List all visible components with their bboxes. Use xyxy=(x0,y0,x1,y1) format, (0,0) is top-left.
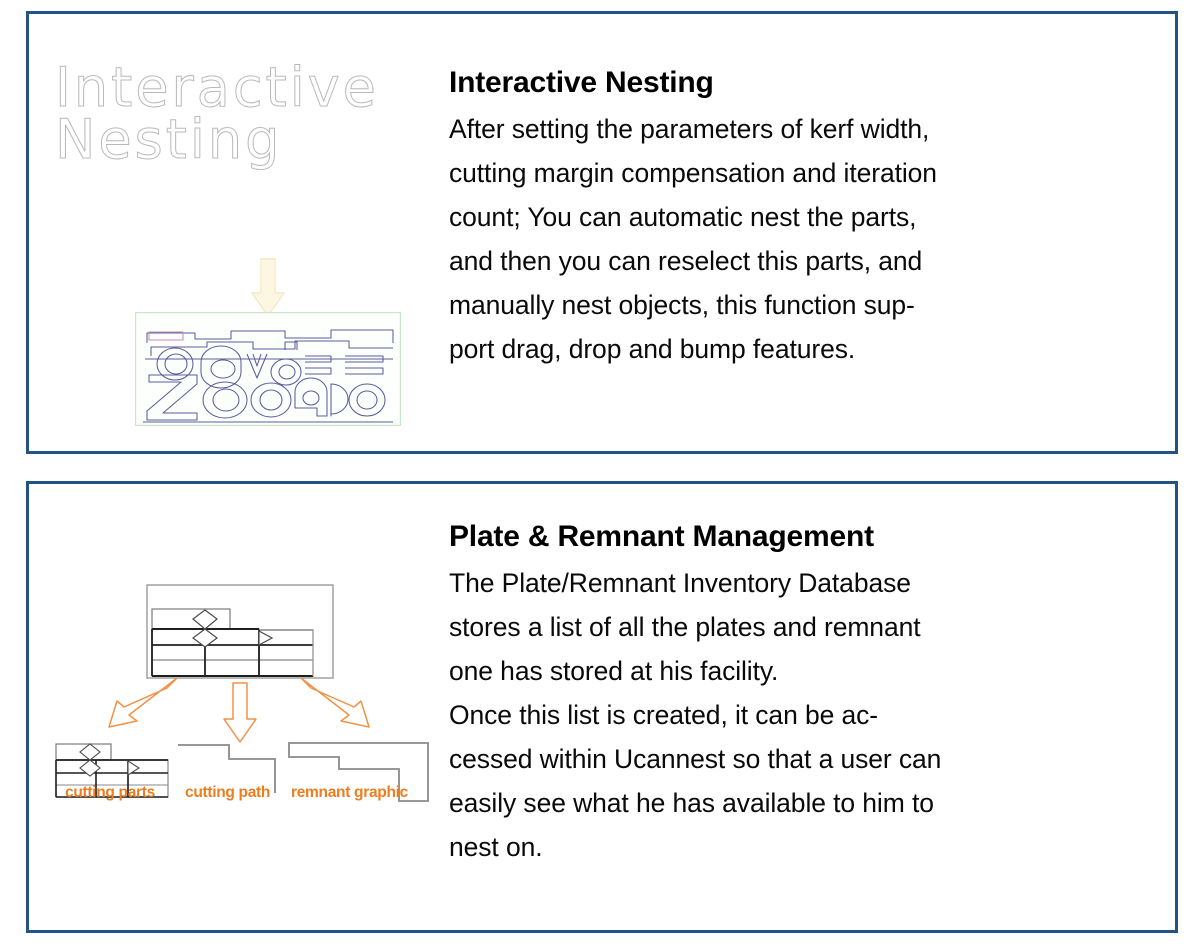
figure-interactive-nesting: Interactive Nesting xyxy=(29,14,449,451)
source-plate xyxy=(147,585,333,678)
plate-remnant-diagram xyxy=(39,579,449,779)
panel-2-paragraph-2: Once this list is created, it can be ac-… xyxy=(449,694,1139,870)
panel-plate-remnant-management: cutting parts cutting path remnant graph… xyxy=(26,481,1178,933)
arrow-down xyxy=(224,683,256,742)
outline-title-graphic: Interactive Nesting xyxy=(55,62,455,167)
panel-1-paragraph-1: After setting the parameters of kerf wid… xyxy=(449,108,1139,372)
label-cutting-path: cutting path xyxy=(185,784,270,802)
arrow-diagonal-right xyxy=(301,678,369,727)
page-title-interactive-nesting: Interactive Nesting xyxy=(449,66,1139,99)
label-remnant-graphic: remnant graphic xyxy=(291,784,408,802)
figure-plate-remnant: cutting parts cutting path remnant graph… xyxy=(29,484,449,930)
panel-2-paragraph-1: The Plate/Remnant Inventory Database sto… xyxy=(449,562,1139,694)
panel-interactive-nesting: Interactive Nesting xyxy=(26,11,1178,454)
label-cutting-parts: cutting parts xyxy=(65,784,155,802)
nested-parts-result xyxy=(135,312,401,426)
down-arrow-icon xyxy=(250,259,286,317)
brochure-page: Interactive Nesting xyxy=(0,0,1200,946)
plate-remnant-illustration: cutting parts cutting path remnant graph… xyxy=(39,579,449,839)
panel-2-body: Plate & Remnant Management The Plate/Rem… xyxy=(449,484,1175,870)
arrow-diagonal-left xyxy=(109,678,177,727)
panel-1-body: Interactive Nesting After setting the pa… xyxy=(449,14,1175,372)
interactive-nesting-illustration: Interactive Nesting xyxy=(37,54,449,404)
page-title-plate-remnant-management: Plate & Remnant Management xyxy=(449,520,1139,553)
